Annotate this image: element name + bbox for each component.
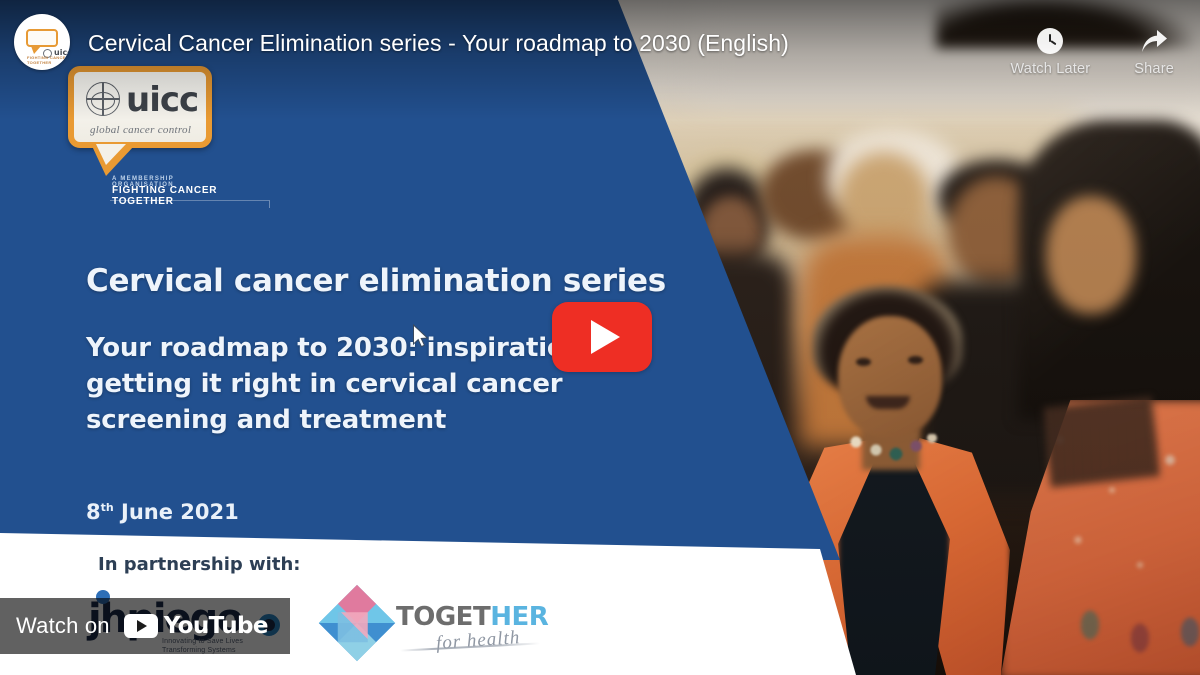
player-header: uicc FIGHTING CANCER TOGETHER Cervical C… [0, 0, 1200, 92]
youtube-badge-triangle-icon [137, 620, 147, 632]
watch-later-button[interactable]: Watch Later [1010, 28, 1090, 77]
youtube-wordmark: YouTube [164, 613, 268, 639]
photo-girl-eye-right [908, 356, 923, 364]
uicc-sub-bracket [110, 200, 270, 208]
avatar-speech-bubble-icon: uicc [26, 29, 58, 47]
youtube-embedded-player[interactable]: uicc global cancer control A MEMBERSHIP … [0, 0, 1200, 675]
header-actions: Watch Later Share [1010, 28, 1182, 77]
video-title[interactable]: Cervical Cancer Elimination series - You… [88, 30, 1010, 57]
slide-date-day: 8 [86, 500, 101, 524]
channel-avatar[interactable]: uicc FIGHTING CANCER TOGETHER [14, 14, 70, 70]
photo-girl-smile [866, 396, 910, 409]
photo-person4-face [1046, 196, 1136, 314]
share-arrow-icon [1139, 28, 1169, 54]
photo-person2-head [838, 152, 930, 248]
share-button[interactable]: Share [1134, 28, 1174, 77]
together-diamond-inner-icon [338, 612, 368, 642]
play-button[interactable] [552, 302, 652, 372]
share-label: Share [1134, 61, 1174, 77]
slide-subheadline-line-3: screening and treatment [86, 402, 686, 438]
together-wordmark-part-1: TOGET [396, 602, 490, 632]
avatar-sub-line: FIGHTING CANCER TOGETHER [27, 55, 70, 65]
photo-girl-face [838, 316, 942, 438]
slide-date: 8th June 2021 [86, 500, 239, 524]
slide-headline: Cervical cancer elimination series [86, 263, 726, 299]
partners-label: In partnership with: [98, 554, 300, 575]
uicc-bubble-tail-inner-icon [96, 144, 126, 165]
uicc-tagline: global cancer control [90, 124, 191, 136]
photo-person4-braids [1042, 396, 1160, 487]
photo-girl-necklace [846, 434, 938, 464]
together-wordmark: TOGETHER [396, 602, 548, 632]
watch-on-label: Watch on [16, 613, 110, 639]
watch-on-youtube-button[interactable]: Watch on YouTube [0, 598, 290, 654]
slide-date-ordinal: th [101, 501, 114, 514]
clock-icon [1037, 28, 1063, 54]
partner-logo-together-for-health: TOGETHER for health [330, 590, 540, 666]
youtube-badge: YouTube [124, 613, 268, 639]
slide-date-rest: June 2021 [114, 500, 239, 524]
youtube-play-badge-icon [124, 614, 158, 638]
photo-girl-eye-left [856, 358, 871, 366]
watch-later-label: Watch Later [1010, 61, 1090, 77]
together-diamond-icon [319, 585, 395, 661]
play-triangle-icon [591, 320, 620, 354]
avatar-bubble-tail-icon [31, 46, 41, 54]
together-script-text: for health [435, 627, 521, 655]
